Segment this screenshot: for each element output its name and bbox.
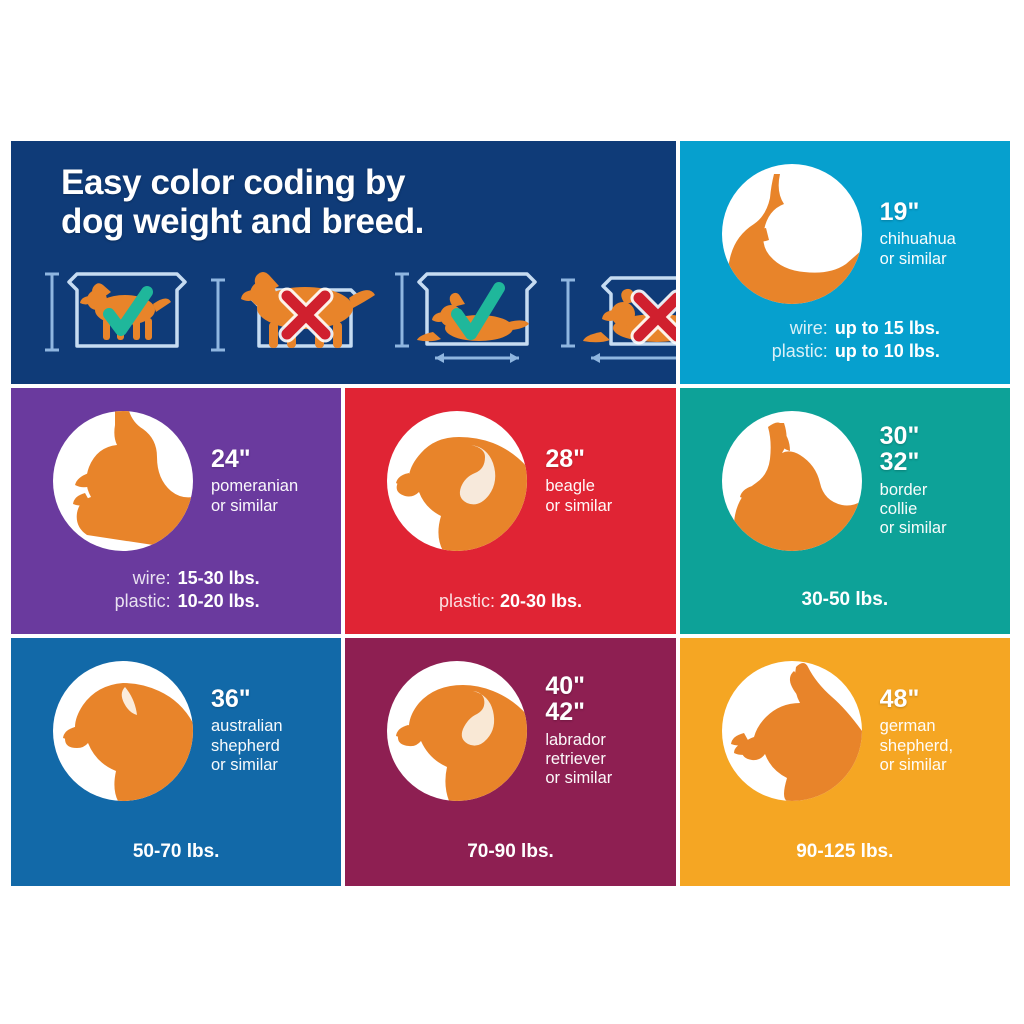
beagle-head-silhouette-icon xyxy=(387,411,527,551)
weight-value: 20-30 lbs. xyxy=(500,591,582,611)
weight-label: plastic: xyxy=(750,340,835,363)
height-measure-icon xyxy=(207,266,229,358)
crate-size: 19" xyxy=(880,199,956,225)
weight-specs: plastic: 20-30 lbs. xyxy=(345,590,675,613)
weight-specs: wire:up to 15 lbs. plastic:up to 10 lbs. xyxy=(680,317,1010,362)
height-measure-icon xyxy=(391,266,413,371)
weight-row: 70-90 lbs. xyxy=(345,840,675,864)
labrador-head-silhouette-icon xyxy=(387,661,527,801)
crate-size: 24" xyxy=(211,446,298,472)
breed-name: german shepherd, or similar xyxy=(880,717,953,775)
breed-panel-pomeranian: 24" pomeranian or similar wire:15-30 lbs… xyxy=(11,388,341,634)
weight-label: wire: xyxy=(93,567,178,590)
australian-shepherd-head-silhouette-icon xyxy=(53,661,193,801)
breed-info: 40" 42" labrador retriever or similar xyxy=(545,673,612,789)
breed-name: pomeranian or similar xyxy=(211,477,298,516)
weight-specs: 70-90 lbs. xyxy=(345,840,675,864)
header-panel: Easy color coding by dog weight and bree… xyxy=(11,141,676,384)
breed-info: 30" 32" border collie or similar xyxy=(880,423,947,539)
breed-name: australian shepherd or similar xyxy=(211,717,283,775)
crate-with-standing-dog-check-icon xyxy=(63,266,191,358)
breed-summary: 48" german shepherd, or similar xyxy=(680,652,1010,810)
weight-row: 30-50 lbs. xyxy=(680,588,1010,612)
crate-size-infographic: Easy color coding by dog weight and bree… xyxy=(11,141,1010,886)
weight-label: plastic: xyxy=(439,591,495,611)
german-shepherd-head-silhouette-icon xyxy=(722,661,862,801)
pomeranian-head-silhouette-icon xyxy=(53,411,193,551)
breed-info: 36" australian shepherd or similar xyxy=(211,686,283,776)
crate-icon-standing-fits xyxy=(41,266,191,358)
weight-row: 90-125 lbs. xyxy=(680,840,1010,864)
weight-specs: 90-125 lbs. xyxy=(680,840,1010,864)
weight-label: wire: xyxy=(750,317,835,340)
weight-value: 50-70 lbs. xyxy=(133,841,220,862)
breed-info: 28" beagle or similar xyxy=(545,446,612,516)
weight-row: plastic: 20-30 lbs. xyxy=(345,590,675,613)
breed-panel-border-collie: 30" 32" border collie or similar 30-50 l… xyxy=(680,388,1010,634)
weight-row: plastic:10-20 lbs. xyxy=(11,590,341,613)
crate-size: 36" xyxy=(211,686,283,712)
crate-size: 48" xyxy=(880,686,953,712)
weight-value: up to 15 lbs. xyxy=(835,317,940,340)
breed-panel-chihuahua: 19" chihuahua or similar wire:up to 15 l… xyxy=(680,141,1010,384)
breed-summary: 24" pomeranian or similar xyxy=(11,402,341,560)
breed-panel-australian-shepherd: 36" australian shepherd or similar 50-70… xyxy=(11,638,341,886)
crate-icon-standing-too-big xyxy=(207,266,375,358)
weight-row: wire:up to 15 lbs. xyxy=(680,317,1010,340)
weight-value: 15-30 lbs. xyxy=(178,567,260,590)
crate-with-oversized-standing-dog-x-icon xyxy=(229,266,375,358)
crate-size-alt: 42" xyxy=(545,699,612,725)
breed-summary: 30" 32" border collie or similar xyxy=(680,402,1010,560)
crate-size: 30" xyxy=(880,423,947,449)
breed-summary: 36" australian shepherd or similar xyxy=(11,652,341,810)
crate-with-oversized-lying-dog-x-icon xyxy=(579,266,676,371)
breed-name: chihuahua or similar xyxy=(880,230,956,269)
weight-label: plastic: xyxy=(93,590,178,613)
weight-specs: 30-50 lbs. xyxy=(680,588,1010,612)
crate-with-lying-dog-check-icon xyxy=(413,266,541,371)
breed-info: 24" pomeranian or similar xyxy=(211,446,298,516)
weight-specs: 50-70 lbs. xyxy=(11,840,341,864)
border-collie-head-silhouette-icon xyxy=(722,411,862,551)
weight-value: 70-90 lbs. xyxy=(467,841,554,862)
breed-panel-beagle: 28" beagle or similar plastic: 20-30 lbs… xyxy=(345,388,675,634)
breed-panel-labrador-retriever: 40" 42" labrador retriever or similar 70… xyxy=(345,638,675,886)
crate-size-alt: 32" xyxy=(880,449,947,475)
breed-name: beagle or similar xyxy=(545,477,612,516)
weight-value: 90-125 lbs. xyxy=(796,841,893,862)
breed-name: labrador retriever or similar xyxy=(545,731,612,789)
page-title: Easy color coding by dog weight and bree… xyxy=(61,163,676,241)
length-measure-icon xyxy=(435,353,519,363)
weight-specs: wire:15-30 lbs. plastic:10-20 lbs. xyxy=(11,567,341,612)
breed-summary: 19" chihuahua or similar xyxy=(680,155,1010,313)
crate-icon-lying-fits xyxy=(391,266,541,371)
height-measure-icon xyxy=(41,266,63,358)
crate-size: 40" xyxy=(545,673,612,699)
crate-icon-lying-too-big xyxy=(557,266,676,371)
crate-size: 28" xyxy=(545,446,612,472)
breed-panel-german-shepherd: 48" german shepherd, or similar 90-125 l… xyxy=(680,638,1010,886)
chihuahua-head-silhouette-icon xyxy=(722,164,862,304)
breed-info: 48" german shepherd, or similar xyxy=(880,686,953,776)
weight-row: 50-70 lbs. xyxy=(11,840,341,864)
weight-value: 30-50 lbs. xyxy=(802,589,889,610)
crate-fit-icon-row xyxy=(41,266,671,371)
height-measure-icon xyxy=(557,266,579,371)
breed-name: border collie or similar xyxy=(880,481,947,539)
weight-value: 10-20 lbs. xyxy=(178,590,260,613)
weight-row: plastic:up to 10 lbs. xyxy=(680,340,1010,363)
length-measure-icon xyxy=(591,353,676,363)
weight-value: up to 10 lbs. xyxy=(835,340,940,363)
breed-summary: 28" beagle or similar xyxy=(345,402,675,560)
breed-info: 19" chihuahua or similar xyxy=(880,199,956,269)
breed-summary: 40" 42" labrador retriever or similar xyxy=(345,652,675,810)
weight-row: wire:15-30 lbs. xyxy=(11,567,341,590)
